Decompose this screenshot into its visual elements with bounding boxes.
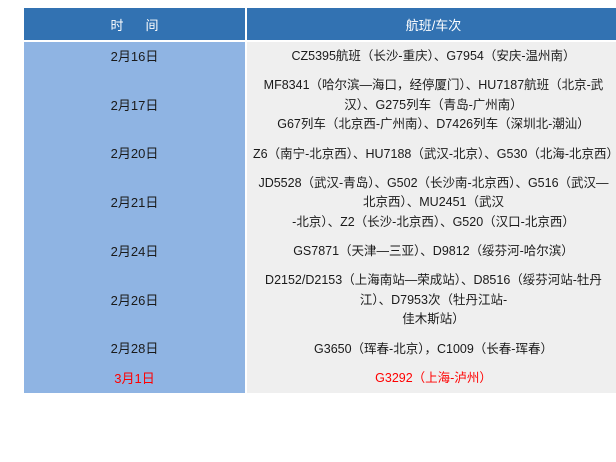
table-row: 3月1日G3292（上海-泸州）	[24, 364, 616, 393]
schedule-table: 时间 航班/车次 2月16日CZ5395航班（长沙-重庆）、G7954（安庆-温…	[22, 8, 616, 393]
cell-flight-list: D2152/D2153（上海南站—荣成站）、D8516（绥芬河站-牡丹江）、D7…	[247, 266, 616, 334]
cell-date: 2月17日	[24, 71, 245, 139]
table-row: 2月28日G3650（珲春-北京），C1009（长春-珲春）	[24, 335, 616, 364]
flight-line: 佳木斯站）	[253, 310, 614, 329]
table-row: 2月24日GS7871（天津—三亚）、D9812（绥芬河-哈尔滨）	[24, 237, 616, 266]
schedule-table-wrapper: 时间 航班/车次 2月16日CZ5395航班（长沙-重庆）、G7954（安庆-温…	[22, 8, 616, 393]
column-header-flight: 航班/车次	[247, 8, 616, 40]
flight-line: D2152/D2153（上海南站—荣成站）、D8516（绥芬河站-牡丹江）、D7…	[253, 271, 614, 310]
table-row: 2月17日MF8341（哈尔滨—海口，经停厦门）、HU7187航班（北京-武汉）…	[24, 71, 616, 139]
table-row: 2月20日Z6（南宁-北京西）、HU7188（武汉-北京）、G530（北海-北京…	[24, 140, 616, 169]
cell-flight-list: G3292（上海-泸州）	[247, 364, 616, 393]
flight-line: G3292（上海-泸州）	[253, 369, 614, 388]
cell-date: 2月28日	[24, 335, 245, 364]
cell-flight-list: G3650（珲春-北京），C1009（长春-珲春）	[247, 335, 616, 364]
column-header-time-label: 时间	[88, 15, 180, 34]
cell-date: 2月16日	[24, 42, 245, 71]
flight-line: -北京）、Z2（长沙-北京西）、G520（汉口-北京西）	[253, 213, 614, 232]
screenshot-root: 时间 航班/车次 2月16日CZ5395航班（长沙-重庆）、G7954（安庆-温…	[0, 0, 616, 462]
cell-date: 3月1日	[24, 364, 245, 393]
flight-line: MF8341（哈尔滨—海口，经停厦门）、HU7187航班（北京-武汉）、G275…	[253, 76, 614, 115]
table-header: 时间 航班/车次	[24, 8, 616, 40]
cell-date: 2月24日	[24, 237, 245, 266]
flight-line: Z6（南宁-北京西）、HU7188（武汉-北京）、G530（北海-北京西）	[253, 145, 614, 164]
flight-line: G3650（珲春-北京），C1009（长春-珲春）	[253, 340, 614, 359]
cell-flight-list: GS7871（天津—三亚）、D9812（绥芬河-哈尔滨）	[247, 237, 616, 266]
cell-flight-list: Z6（南宁-北京西）、HU7188（武汉-北京）、G530（北海-北京西）	[247, 140, 616, 169]
table-row: 2月16日CZ5395航班（长沙-重庆）、G7954（安庆-温州南）	[24, 42, 616, 71]
header-row: 时间 航班/车次	[24, 8, 616, 40]
flight-line: CZ5395航班（长沙-重庆）、G7954（安庆-温州南）	[253, 47, 614, 66]
cell-flight-list: MF8341（哈尔滨—海口，经停厦门）、HU7187航班（北京-武汉）、G275…	[247, 71, 616, 139]
cell-date: 2月26日	[24, 266, 245, 334]
column-header-time: 时间	[24, 8, 245, 40]
cell-date: 2月21日	[24, 169, 245, 237]
flight-line: JD5528（武汉-青岛）、G502（长沙南-北京西）、G516（武汉—北京西）…	[253, 174, 614, 213]
table-row: 2月21日JD5528（武汉-青岛）、G502（长沙南-北京西）、G516（武汉…	[24, 169, 616, 237]
flight-line: G67列车（北京西-广州南）、D7426列车（深圳北-潮汕）	[253, 115, 614, 134]
cell-flight-list: JD5528（武汉-青岛）、G502（长沙南-北京西）、G516（武汉—北京西）…	[247, 169, 616, 237]
table-row: 2月26日D2152/D2153（上海南站—荣成站）、D8516（绥芬河站-牡丹…	[24, 266, 616, 334]
flight-line: GS7871（天津—三亚）、D9812（绥芬河-哈尔滨）	[253, 242, 614, 261]
cell-date: 2月20日	[24, 140, 245, 169]
table-body: 2月16日CZ5395航班（长沙-重庆）、G7954（安庆-温州南）2月17日M…	[24, 40, 616, 393]
cell-flight-list: CZ5395航班（长沙-重庆）、G7954（安庆-温州南）	[247, 42, 616, 71]
